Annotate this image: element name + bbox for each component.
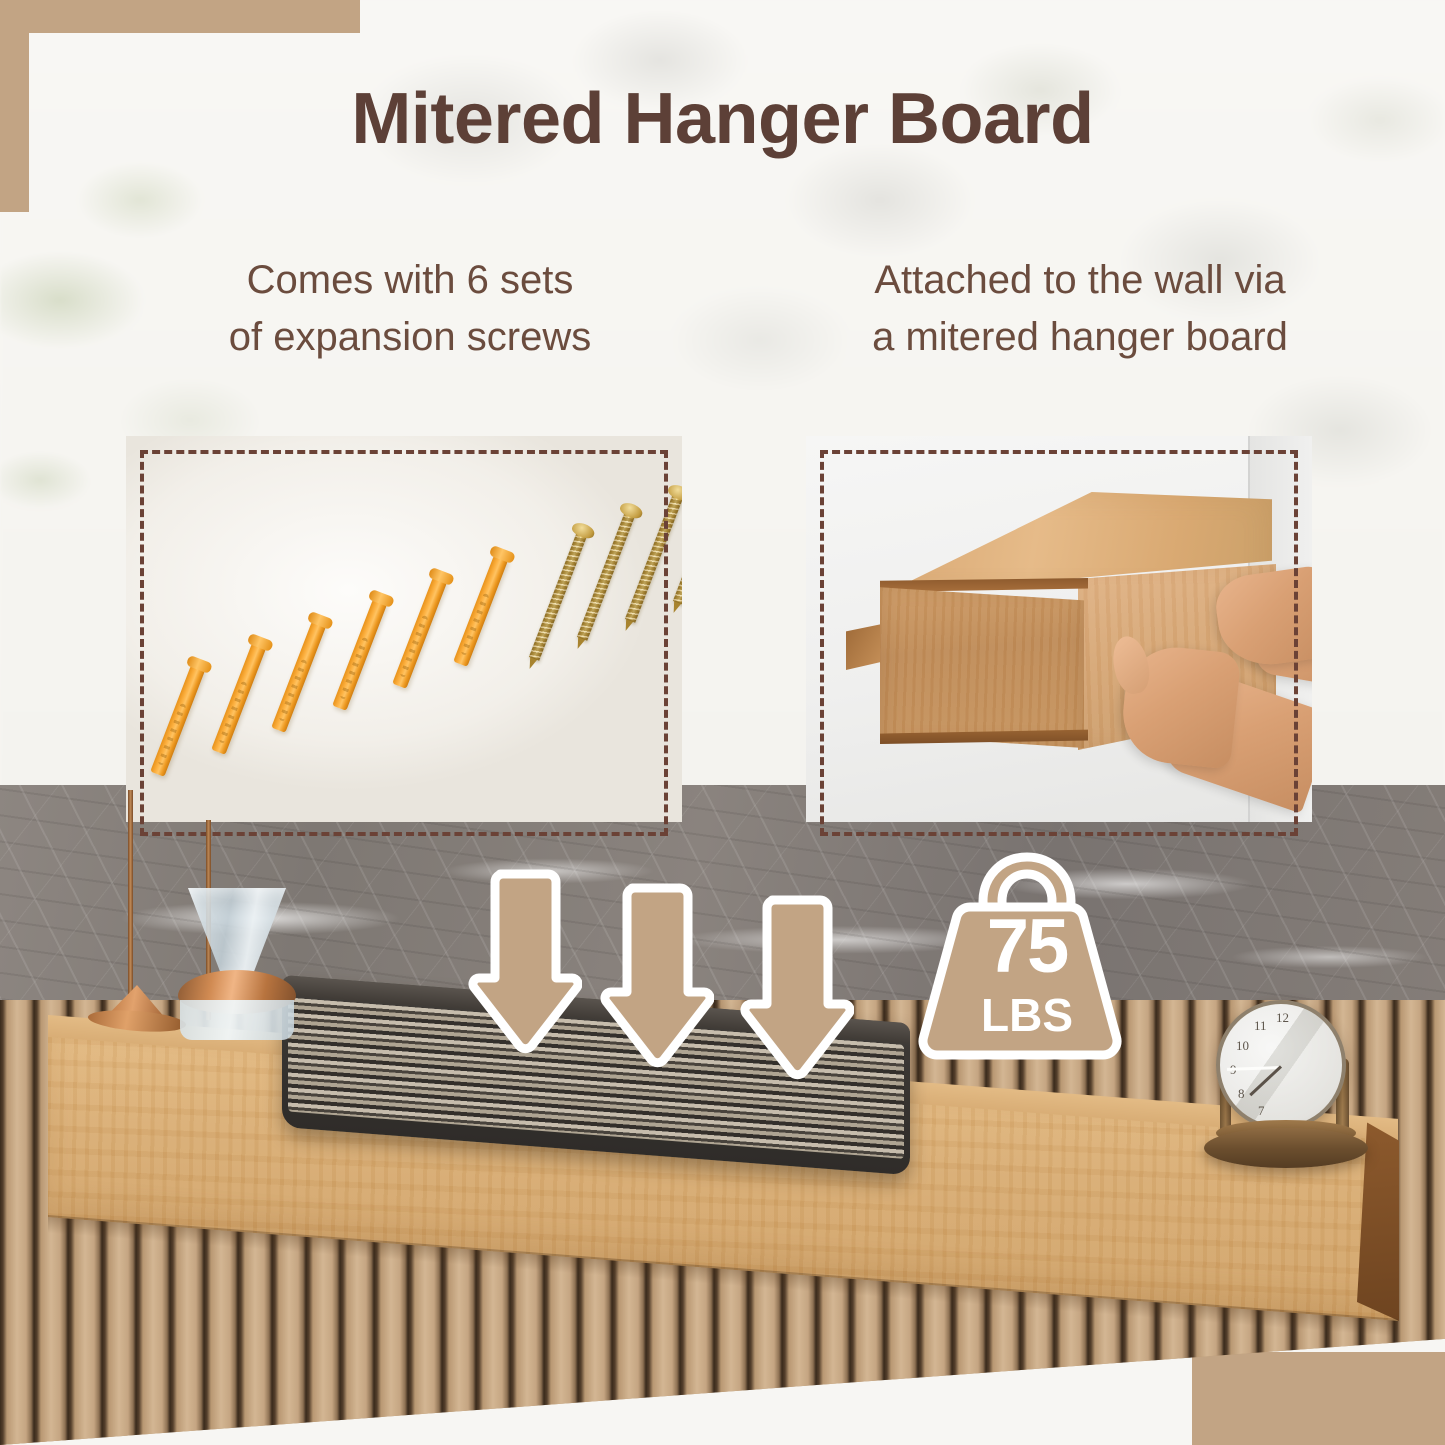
- weight-value: 75: [908, 909, 1146, 985]
- decor-rod-left: [128, 790, 133, 1000]
- caption-line-2: a mitered hanger board: [740, 309, 1420, 366]
- decor-copper-glass-vessel: [176, 888, 298, 1038]
- clock-base: [1204, 1128, 1368, 1168]
- vessel-glass-cone: [188, 888, 286, 980]
- caption-line-1: Comes with 6 sets: [100, 252, 720, 309]
- vessel-glass-base: [180, 1000, 294, 1040]
- arrow-down-icon: [738, 892, 854, 1080]
- clock-hour-hand: [1249, 1065, 1282, 1096]
- weight-unit: LBS: [908, 992, 1146, 1038]
- photo-frame-screws: [140, 450, 668, 836]
- product-infographic: Mitered Hanger Board Comes with 6 sets o…: [0, 0, 1445, 1445]
- clock-face: 12 11 10 9 8 7: [1216, 1000, 1346, 1130]
- arrow-down-icon: [466, 866, 582, 1054]
- page-title: Mitered Hanger Board: [0, 82, 1445, 158]
- decor-copper-tray: [88, 981, 186, 1037]
- photo-frame-wall-mount: [820, 450, 1298, 836]
- caption-line-1: Attached to the wall via: [740, 252, 1420, 309]
- feature-caption-screws: Comes with 6 sets of expansion screws: [100, 252, 720, 366]
- arrow-down-icon: [598, 880, 714, 1068]
- caption-line-2: of expansion screws: [100, 309, 720, 366]
- feature-caption-hanger-board: Attached to the wall via a mitered hange…: [740, 252, 1420, 366]
- decor-desk-clock: 12 11 10 9 8 7: [1198, 1000, 1374, 1168]
- weight-capacity-badge: 75 LBS: [908, 845, 1146, 1067]
